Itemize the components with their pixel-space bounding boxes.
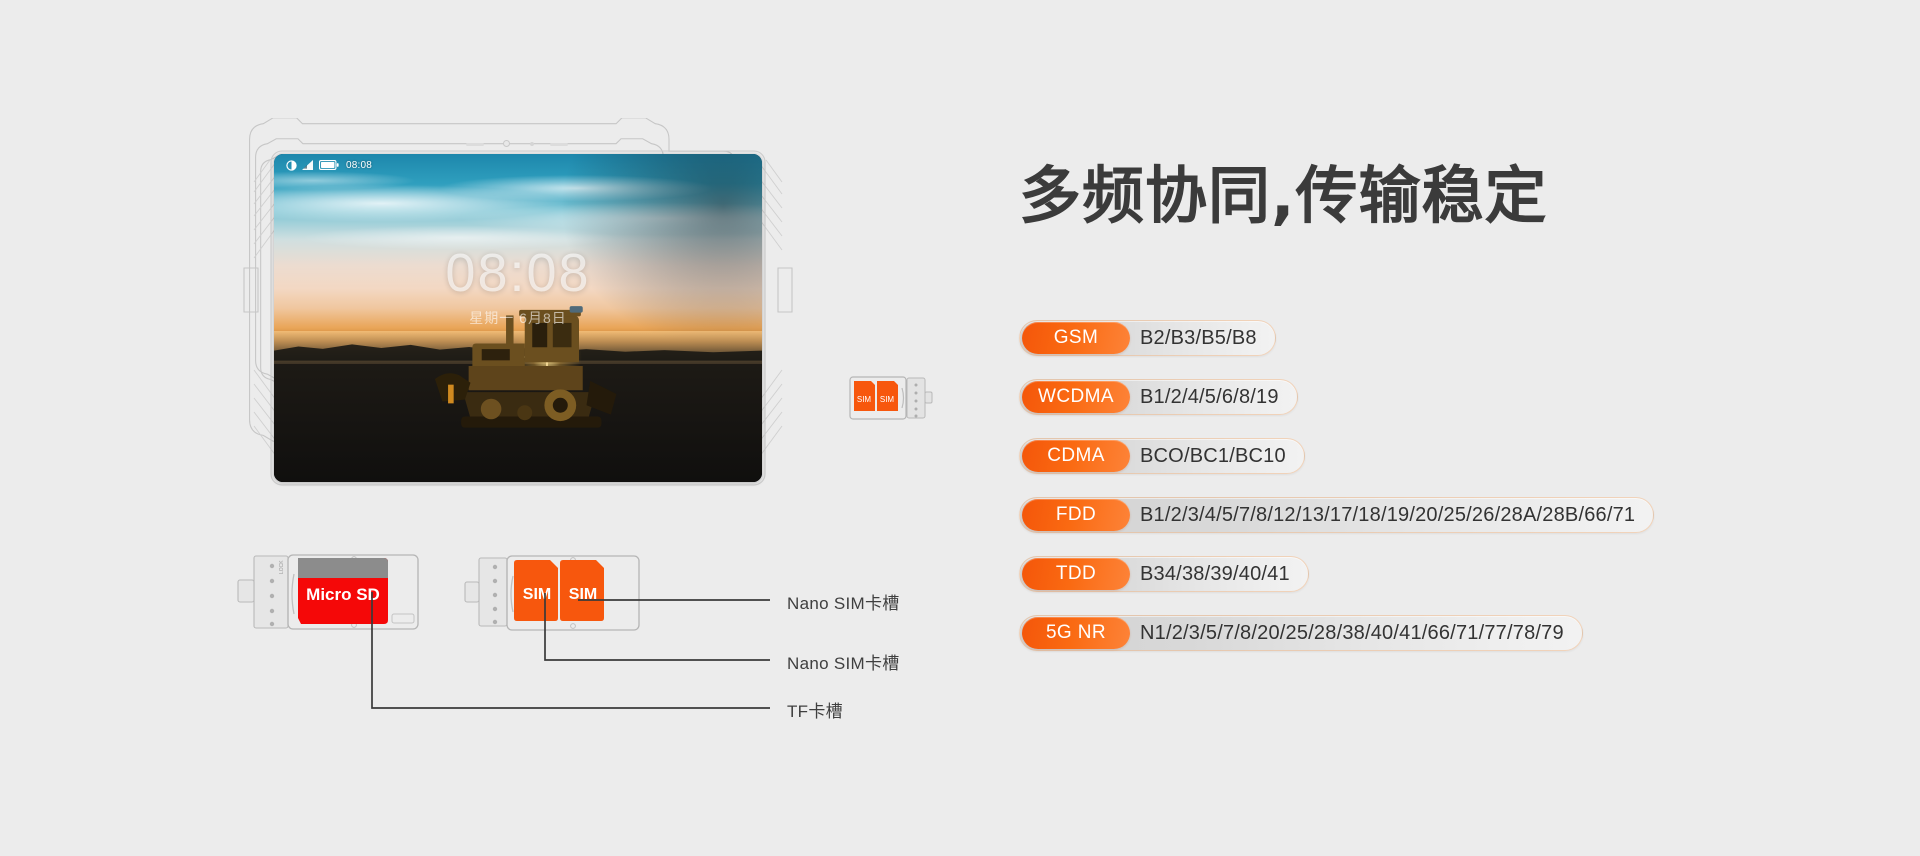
do-not-disturb-icon	[286, 160, 297, 171]
band-tag: FDD	[1022, 499, 1130, 531]
bulldozer-silhouette	[420, 298, 644, 449]
battery-icon	[319, 160, 339, 170]
tablet-screen[interactable]: 08:08 08:08 星期一 6月8日	[274, 154, 762, 482]
svg-text:SIM: SIM	[569, 586, 597, 603]
svg-text:LOCK: LOCK	[279, 560, 285, 574]
rugged-tablet: 08:08 08:08 星期一 6月8日	[238, 118, 798, 518]
page-title: 多频协同,传输稳定	[1019, 165, 1548, 227]
band-list: GSM B2/B3/B5/B8 WCDMA B1/2/4/5/6/8/19 CD…	[1019, 320, 1859, 674]
band-value: B2/B3/B5/B8	[1140, 327, 1257, 350]
sim-tray-small: SIM SIM	[845, 372, 937, 424]
band-tag: GSM	[1022, 322, 1130, 354]
band-tag: 5G NR	[1022, 617, 1130, 649]
sd-card-tray: LOCK Micro SD	[232, 548, 426, 640]
sim-card-tray: SIM SIM	[465, 548, 645, 640]
callout-label-tf: TF卡槽	[787, 697, 843, 722]
front-camera	[503, 140, 510, 147]
signal-bars-icon	[302, 160, 314, 171]
band-row: TDD B34/38/39/40/41	[1019, 556, 1309, 592]
band-row: WCDMA B1/2/4/5/6/8/19	[1019, 379, 1298, 415]
callout-label-nano-sim-1: Nano SIM卡槽	[787, 589, 900, 614]
band-tag: WCDMA	[1022, 381, 1130, 413]
band-row: 5G NR N1/2/3/5/7/8/20/25/28/38/40/41/66/…	[1019, 615, 1583, 651]
status-bar: 08:08	[274, 154, 762, 176]
status-bar-time: 08:08	[346, 160, 372, 171]
svg-text:SIM: SIM	[880, 395, 895, 404]
band-tag: TDD	[1022, 558, 1130, 590]
band-row: CDMA BCO/BC1/BC10	[1019, 438, 1305, 474]
right-panel: 多频协同,传输稳定 GSM B2/B3/B5/B8 WCDMA B1/2/4/5…	[1019, 0, 1859, 856]
svg-text:SIM: SIM	[857, 395, 872, 404]
band-tag: CDMA	[1022, 440, 1130, 472]
band-value: N1/2/3/5/7/8/20/25/28/38/40/41/66/71/77/…	[1140, 622, 1564, 645]
band-value: B34/38/39/40/41	[1140, 563, 1290, 586]
speaker-grille	[550, 143, 568, 146]
svg-text:Micro SD: Micro SD	[306, 585, 380, 604]
band-row: FDD B1/2/3/4/5/7/8/12/13/17/18/19/20/25/…	[1019, 497, 1654, 533]
band-value: BCO/BC1/BC10	[1140, 445, 1286, 468]
speaker-grille	[466, 143, 484, 146]
marketing-slide: 08:08 08:08 星期一 6月8日	[0, 0, 1920, 856]
callout-label-nano-sim-2: Nano SIM卡槽	[787, 649, 900, 674]
band-row: GSM B2/B3/B5/B8	[1019, 320, 1276, 356]
ambient-sensor	[530, 142, 534, 146]
band-value: B1/2/3/4/5/7/8/12/13/17/18/19/20/25/26/2…	[1140, 504, 1635, 527]
svg-text:SIM: SIM	[523, 586, 551, 603]
band-value: B1/2/4/5/6/8/19	[1140, 386, 1279, 409]
